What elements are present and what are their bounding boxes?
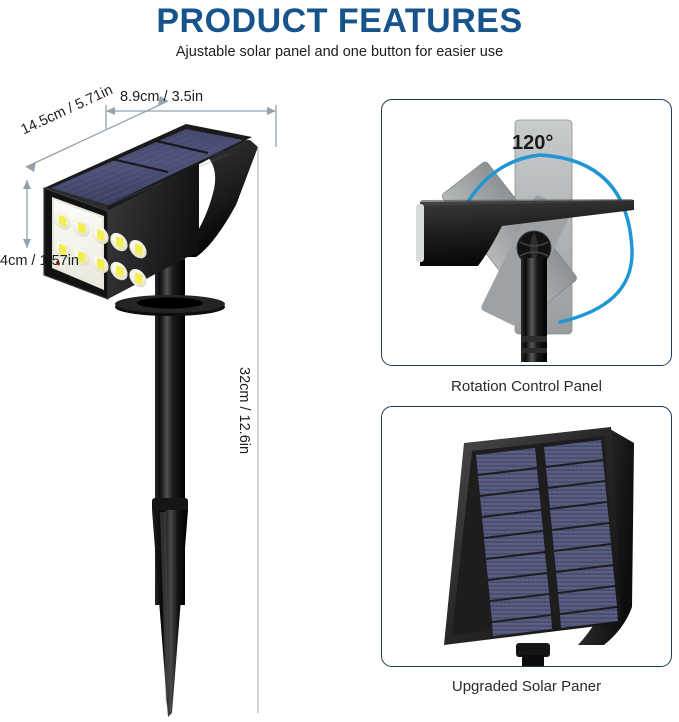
rotation-panel-caption: Rotation Control Panel <box>381 378 672 395</box>
dimension-label-head-height: 4cm / 1.57in <box>0 253 79 269</box>
dimension-label-total-height: 32cm / 12.6in <box>236 367 252 454</box>
dimension-label-width: 8.9cm / 3.5in <box>120 89 203 105</box>
page-title: PRODUCT FEATURES <box>0 2 679 40</box>
solar-panel-caption: Upgraded Solar Paner <box>381 678 672 695</box>
rotation-angle-label: 120° <box>512 132 553 155</box>
product-features-infographic: PRODUCT FEATURES Ajustable solar panel a… <box>0 0 679 722</box>
panel-stem <box>516 643 550 657</box>
solar-panel-card <box>381 406 672 667</box>
rotation-control-panel-card: 120° <box>381 99 672 366</box>
product-illustration: 8.9cm / 3.5in 14.5cm / 5.71in 4cm / 1.57… <box>0 85 330 722</box>
page-subtitle: Ajustable solar panel and one button for… <box>0 44 679 60</box>
